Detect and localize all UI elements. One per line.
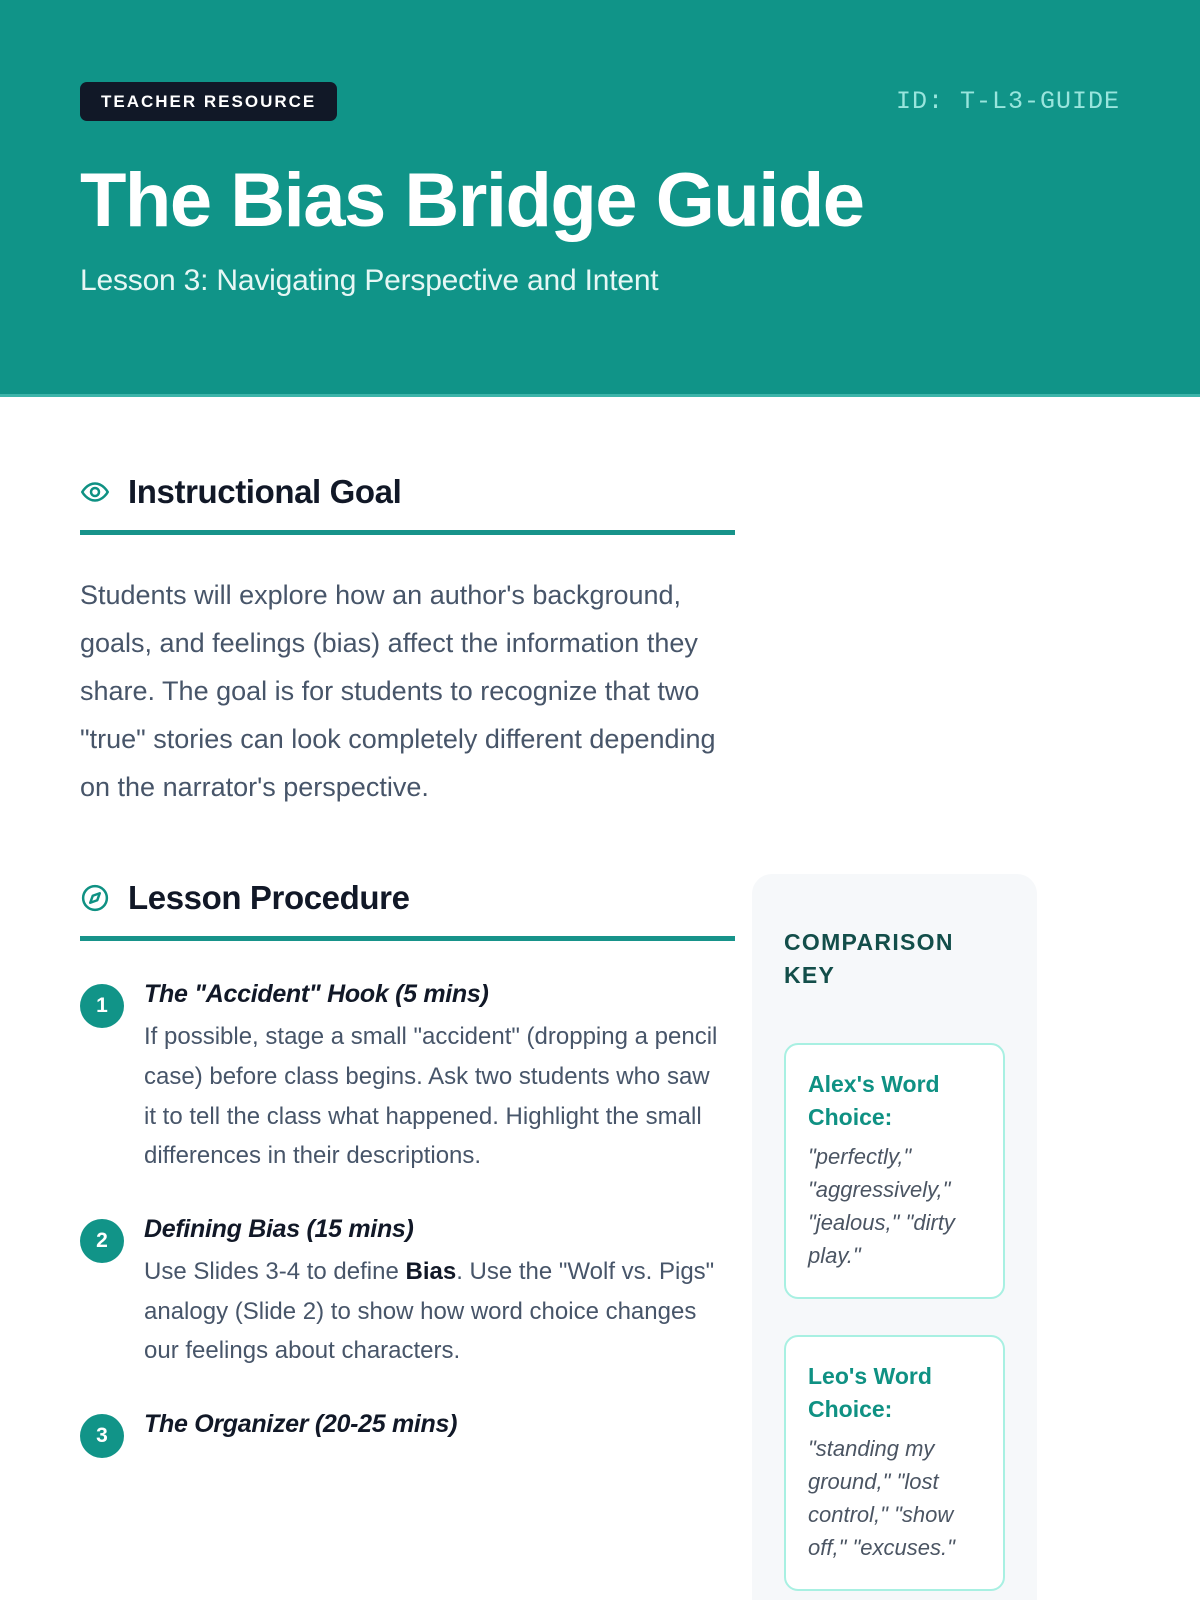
word-choice-card-alex: Alex's Word Choice: "perfectly," "aggres… xyxy=(784,1043,1005,1299)
comparison-key-panel: COMPARISON KEY Alex's Word Choice: "perf… xyxy=(752,874,1037,1600)
instructional-goal-heading-row: Instructional Goal xyxy=(80,475,736,508)
lesson-procedure-divider xyxy=(80,936,735,941)
step-body: The "Accident" Hook (5 mins) If possible… xyxy=(144,979,724,1176)
step-description: If possible, stage a small "accident" (d… xyxy=(144,1017,724,1175)
page-subtitle: Lesson 3: Navigating Perspective and Int… xyxy=(80,264,1120,298)
step-description: Use Slides 3-4 to define Bias. Use the "… xyxy=(144,1252,724,1371)
word-choice-card-leo: Leo's Word Choice: "standing my ground,"… xyxy=(784,1335,1005,1591)
eye-icon xyxy=(80,477,110,507)
word-choice-card-title: Alex's Word Choice: xyxy=(808,1068,981,1134)
lesson-procedure-heading-row: Lesson Procedure xyxy=(80,881,736,914)
instructional-goal-divider xyxy=(80,530,735,535)
page-body: Instructional Goal Students will explore… xyxy=(0,397,1200,1600)
word-choice-card-words: "standing my ground," "lost control," "s… xyxy=(808,1432,981,1564)
sidebar-column: COMPARISON KEY Alex's Word Choice: "perf… xyxy=(736,397,1120,1600)
step-description-pre: Use Slides 3-4 to define xyxy=(144,1258,405,1285)
instructional-goal-text: Students will explore how an author's ba… xyxy=(80,571,730,811)
step-number-badge: 2 xyxy=(80,1219,124,1263)
word-choice-card-title: Leo's Word Choice: xyxy=(808,1360,981,1426)
procedure-step: 2 Defining Bias (15 mins) Use Slides 3-4… xyxy=(80,1214,736,1371)
document-id-label: ID: T-L3-GUIDE xyxy=(896,87,1120,116)
main-content-column: Instructional Goal Students will explore… xyxy=(0,397,736,1496)
header-top-row: TEACHER RESOURCE ID: T-L3-GUIDE xyxy=(80,80,1120,122)
procedure-steps-list: 1 The "Accident" Hook (5 mins) If possib… xyxy=(80,979,736,1458)
procedure-step: 3 The Organizer (20-25 mins) xyxy=(80,1409,736,1458)
step-title: The "Accident" Hook (5 mins) xyxy=(144,979,724,1010)
word-choice-card-words: "perfectly," "aggressively," "jealous," … xyxy=(808,1140,981,1272)
comparison-key-title: COMPARISON KEY xyxy=(784,926,1005,991)
page-title: The Bias Bridge Guide xyxy=(80,160,1120,242)
teacher-resource-badge: TEACHER RESOURCE xyxy=(80,82,337,121)
page-header: TEACHER RESOURCE ID: T-L3-GUIDE The Bias… xyxy=(0,0,1200,397)
step-description-emphasis: Bias xyxy=(405,1258,456,1285)
compass-icon xyxy=(80,883,110,913)
step-title: Defining Bias (15 mins) xyxy=(144,1214,724,1245)
procedure-step: 1 The "Accident" Hook (5 mins) If possib… xyxy=(80,979,736,1176)
step-number-badge: 1 xyxy=(80,984,124,1028)
step-title: The Organizer (20-25 mins) xyxy=(144,1409,724,1440)
step-number-badge: 3 xyxy=(80,1414,124,1458)
step-body: Defining Bias (15 mins) Use Slides 3-4 t… xyxy=(144,1214,724,1371)
lesson-procedure-title: Lesson Procedure xyxy=(128,881,410,914)
step-body: The Organizer (20-25 mins) xyxy=(144,1409,724,1458)
instructional-goal-title: Instructional Goal xyxy=(128,475,401,508)
